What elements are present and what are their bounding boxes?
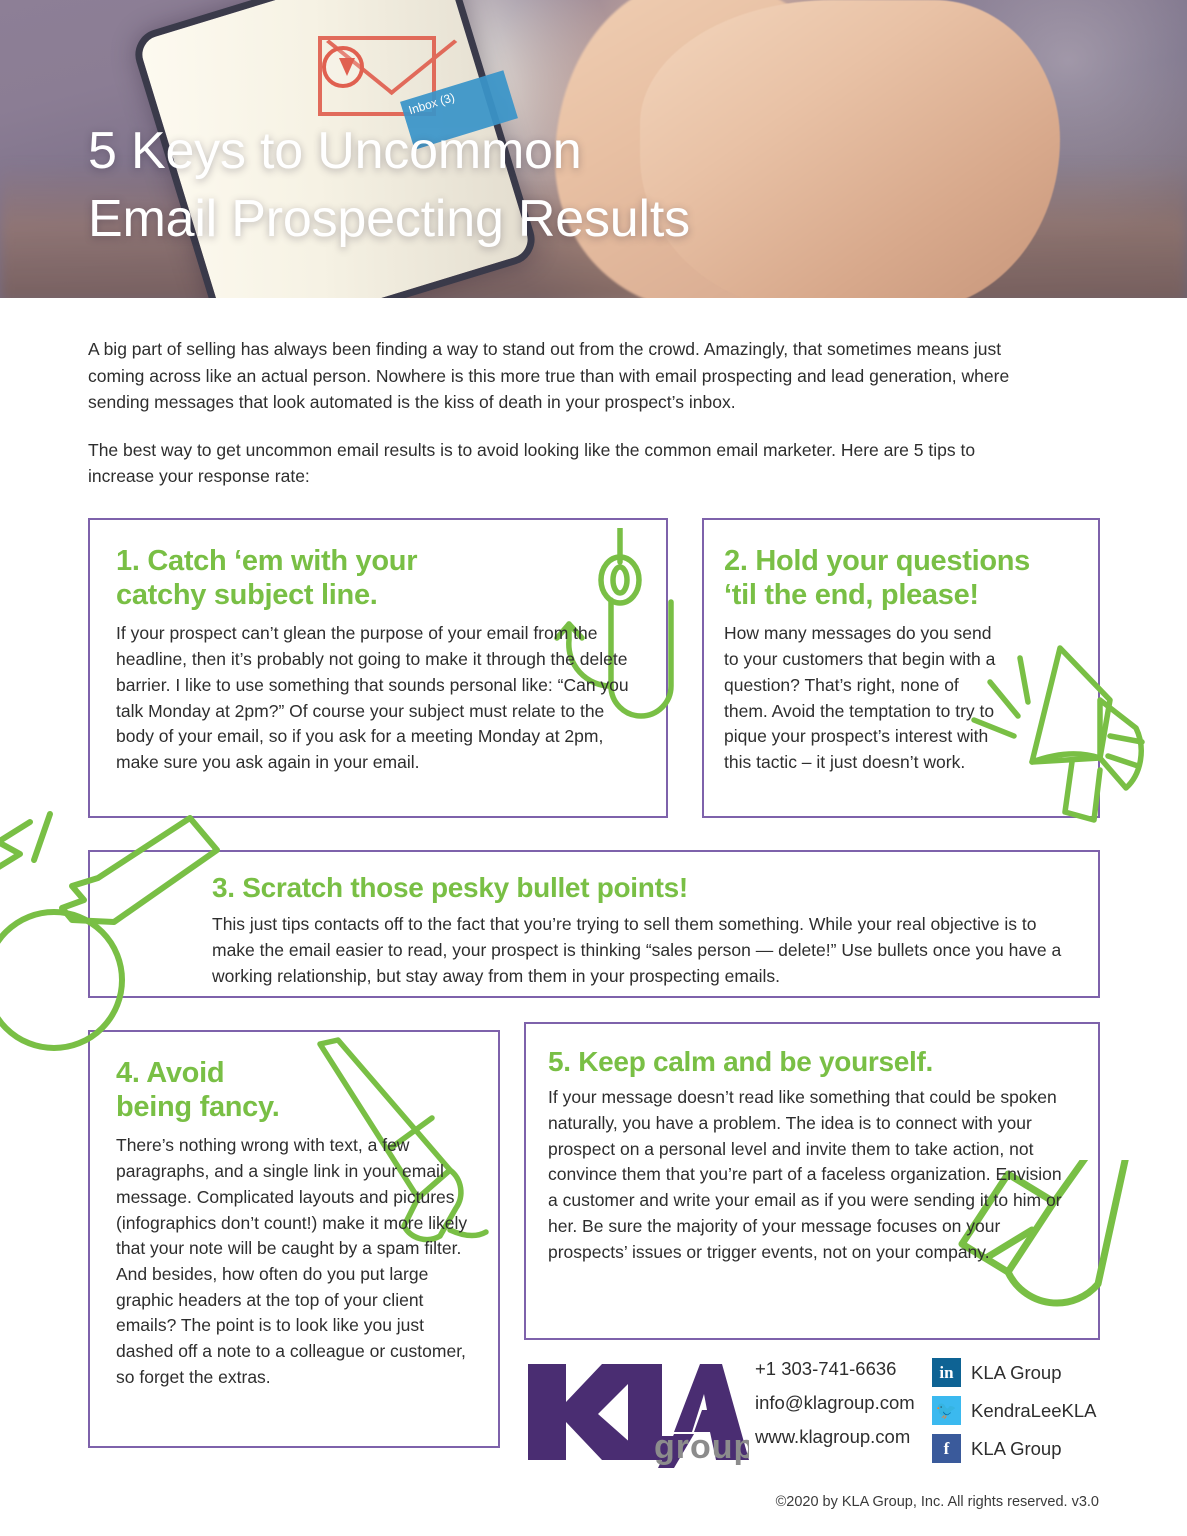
kla-group-logo: group [524, 1356, 749, 1468]
tip-card-4: 4. Avoid being fancy. There’s nothing wr… [88, 1030, 500, 1448]
hero-divider [0, 298, 1187, 303]
social-link-twitter[interactable]: 🐦 KendraLeeKLA [932, 1396, 1097, 1425]
social-link-linkedin[interactable]: in KLA Group [932, 1358, 1097, 1387]
contact-email[interactable]: info@klagroup.com [755, 1392, 915, 1414]
linkedin-icon[interactable]: in [932, 1358, 961, 1387]
tip-card-3: 3. Scratch those pesky bullet points! Th… [88, 850, 1100, 998]
intro-paragraph-2: The best way to get uncommon email resul… [88, 437, 1018, 490]
tip-card-5-heading: 5. Keep calm and be yourself. [548, 1046, 1076, 1078]
facebook-icon[interactable]: f [932, 1434, 961, 1463]
tip-card-4-heading: 4. Avoid being fancy. [116, 1056, 478, 1124]
hero-banner: Inbox (3) 5 Keys to Uncommon Email Prosp… [0, 0, 1187, 303]
page-title: 5 Keys to Uncommon Email Prospecting Res… [88, 118, 690, 253]
copyright-text: ©2020 by KLA Group, Inc. All rights rese… [776, 1494, 1099, 1510]
intro-text: A big part of selling has always been fi… [88, 336, 1018, 490]
social-links: in KLA Group 🐦 KendraLeeKLA f KLA Group [932, 1358, 1097, 1463]
twitter-icon[interactable]: 🐦 [932, 1396, 961, 1425]
tip-card-5-body: If your message doesn’t read like someth… [548, 1085, 1076, 1265]
tip-card-2-heading: 2. Hold your questions ‘til the end, ple… [724, 544, 1078, 612]
tip-card-2-body: How many messages do you send to your cu… [724, 621, 996, 775]
tip-card-3-heading: 3. Scratch those pesky bullet points! [212, 872, 1072, 904]
linkedin-handle: KLA Group [971, 1362, 1062, 1384]
tip-card-3-body: This just tips contacts off to the fact … [212, 912, 1077, 989]
tip-card-5: 5. Keep calm and be yourself. If your me… [524, 1022, 1100, 1340]
tip-card-1-body: If your prospect can’t glean the purpose… [116, 621, 636, 775]
facebook-handle: KLA Group [971, 1438, 1062, 1460]
tip-card-1: 1. Catch ‘em with your catchy subject li… [88, 518, 668, 818]
intro-paragraph-1: A big part of selling has always been fi… [88, 336, 1018, 416]
contact-website[interactable]: www.klagroup.com [755, 1426, 915, 1448]
contact-phone[interactable]: +1 303-741-6636 [755, 1358, 915, 1380]
social-link-facebook[interactable]: f KLA Group [932, 1434, 1097, 1463]
contact-info: +1 303-741-6636 info@klagroup.com www.kl… [755, 1358, 915, 1448]
hand-illustration [640, 0, 1060, 303]
tip-card-1-heading: 1. Catch ‘em with your catchy subject li… [116, 544, 638, 612]
twitter-handle: KendraLeeKLA [971, 1400, 1097, 1422]
tip-card-2: 2. Hold your questions ‘til the end, ple… [702, 518, 1100, 818]
download-arrow-icon [322, 46, 364, 88]
tip-card-4-body: There’s nothing wrong with text, a few p… [116, 1133, 476, 1390]
logo-group-word: group [654, 1428, 749, 1466]
